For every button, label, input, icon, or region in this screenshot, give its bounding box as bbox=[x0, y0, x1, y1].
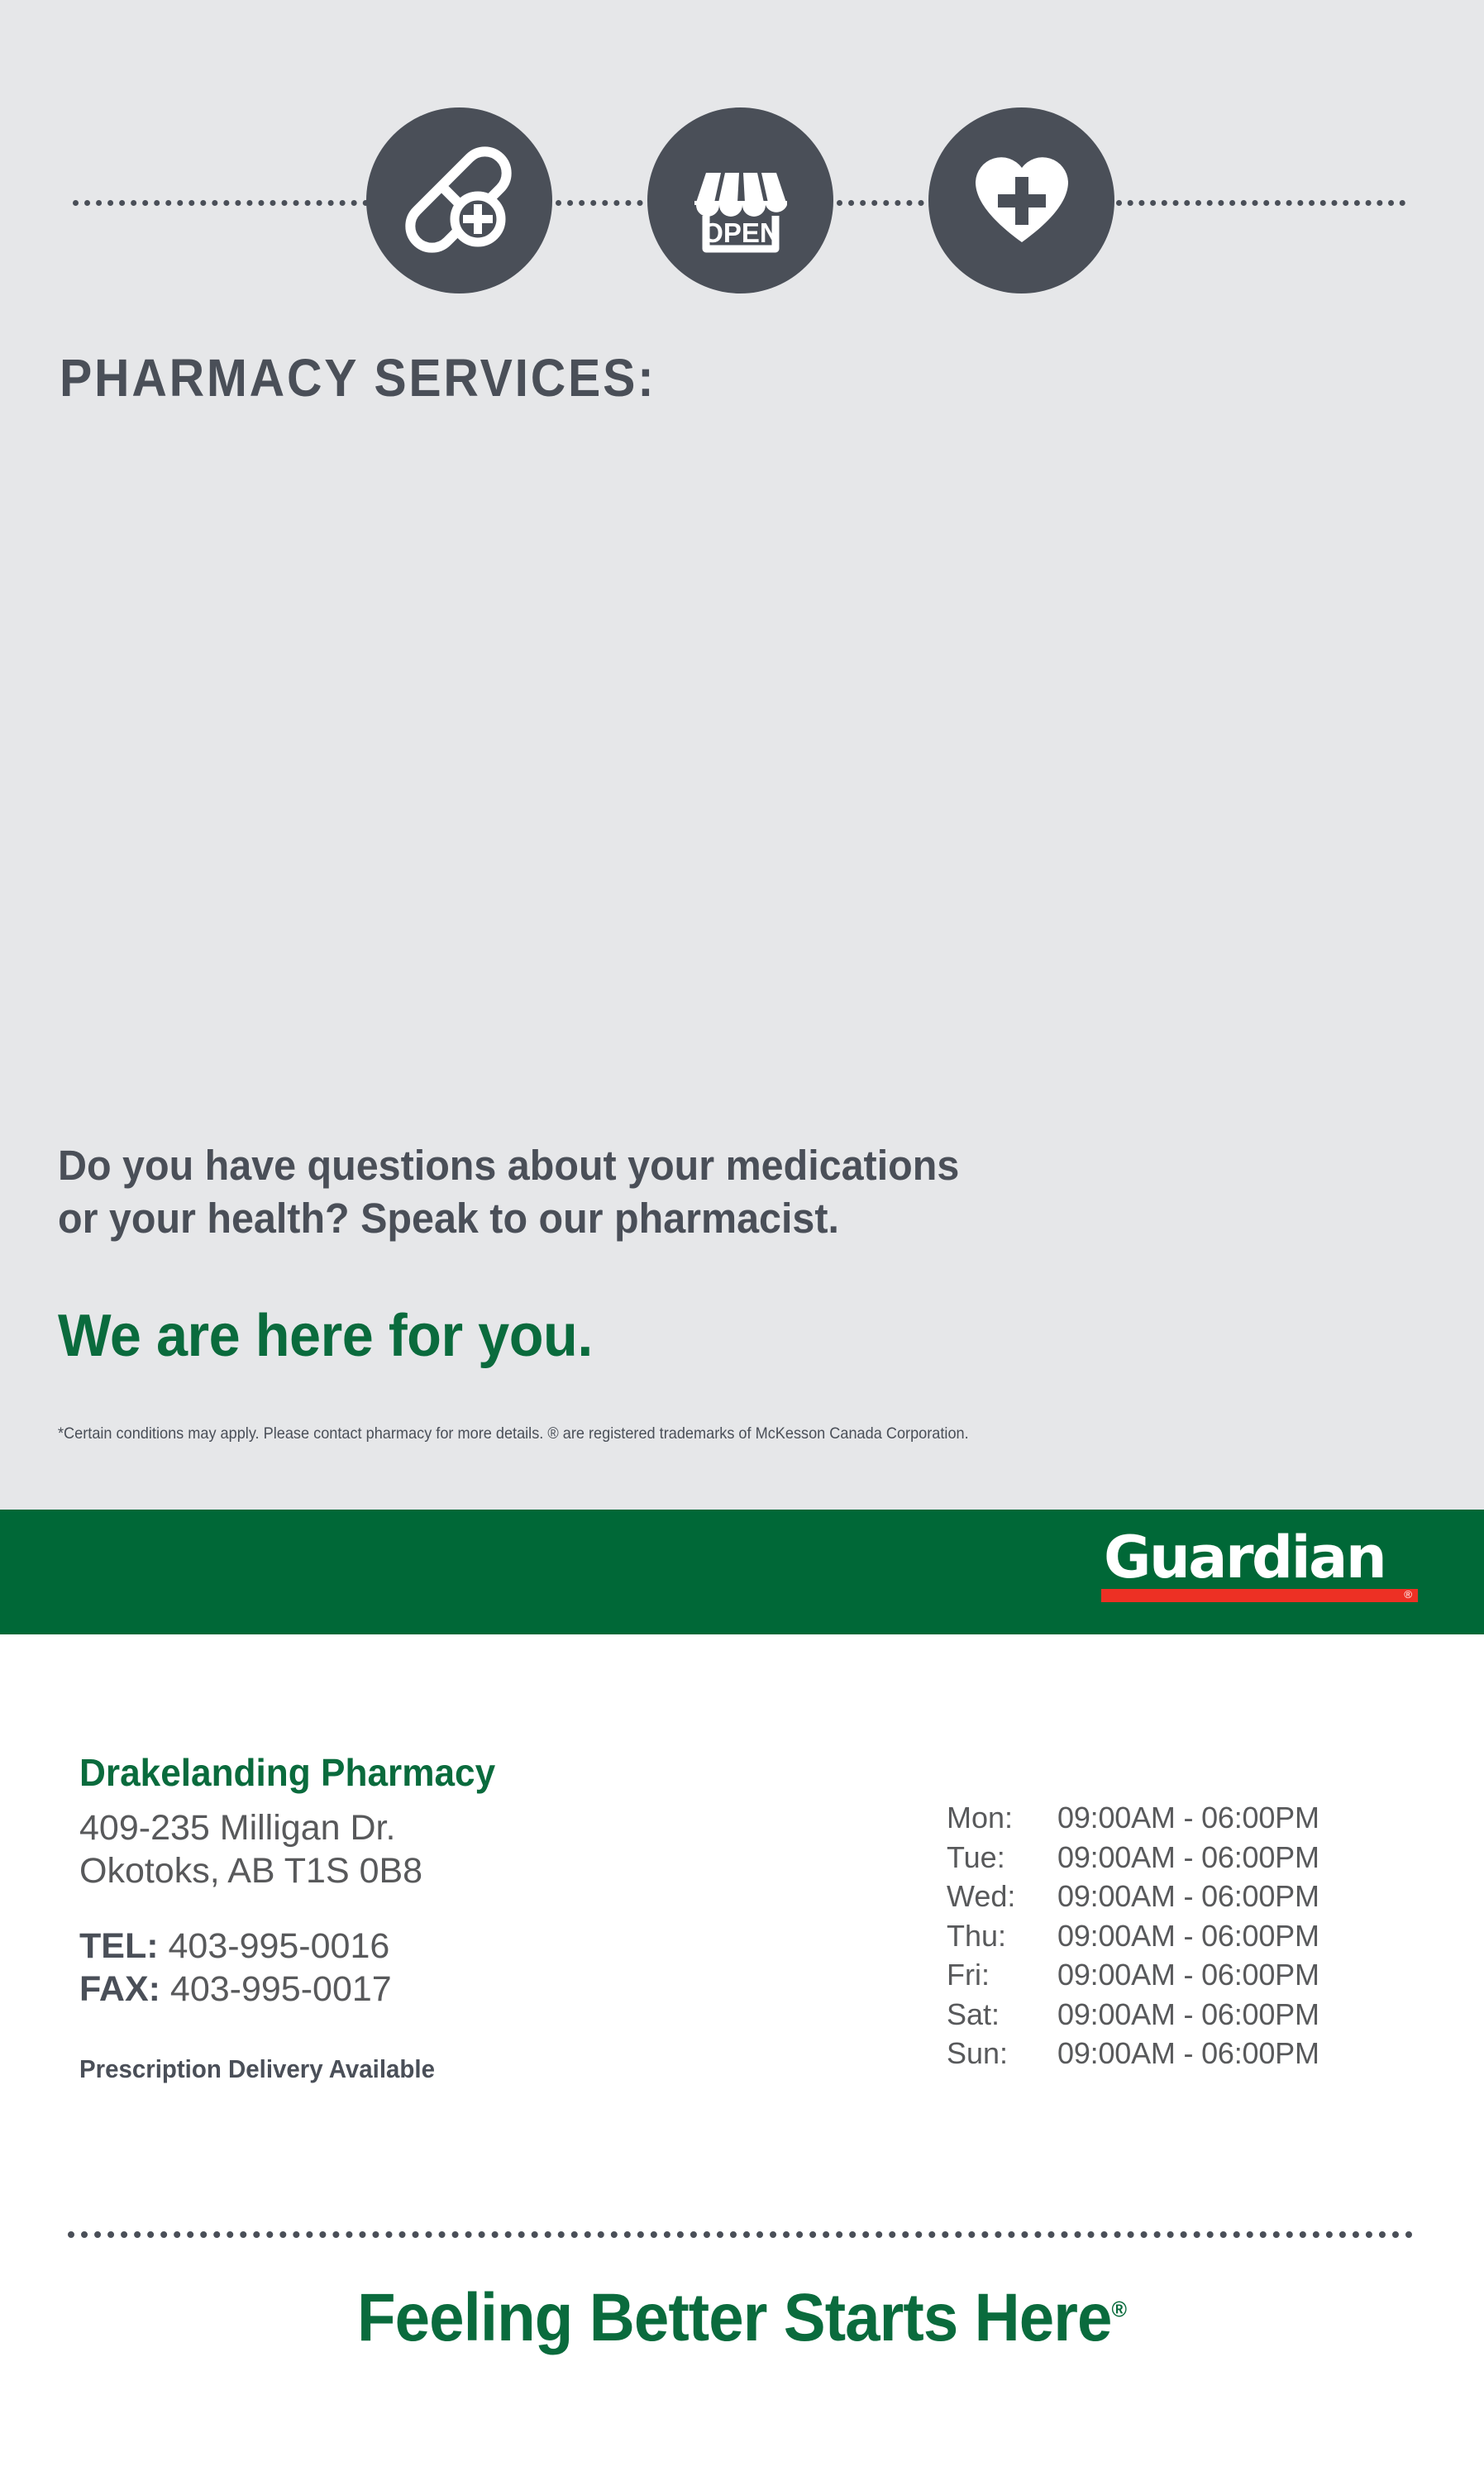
hours-row: Sun: 09:00AM - 06:00PM bbox=[947, 2034, 1319, 2073]
heart-plus-icon-badge bbox=[928, 107, 1114, 293]
storefront-open-icon-badge: OPEN bbox=[647, 107, 833, 293]
fax-value: 403-995-0017 bbox=[170, 1969, 392, 2009]
storefront-open-icon: OPEN bbox=[686, 146, 795, 255]
registered-trademark-icon: ® bbox=[1111, 2297, 1127, 2322]
hours-day: Sun: bbox=[947, 2034, 1057, 2073]
brand-band: Guardian ® bbox=[0, 1510, 1484, 1634]
hours-time: 09:00AM - 06:00PM bbox=[1057, 1916, 1319, 1956]
hours-day: Sat: bbox=[947, 1995, 1057, 2035]
message-line-2: or your health? Speak to our pharmacist. bbox=[58, 1192, 1236, 1245]
store-contact: TEL: 403-995-0016 FAX: 403-995-0017 bbox=[79, 1925, 823, 2011]
delivery-note: Prescription Delivery Available bbox=[79, 2054, 786, 2084]
guardian-logo: Guardian ® bbox=[1101, 1529, 1424, 1602]
disclaimer-text: *Certain conditions may apply. Please co… bbox=[58, 1424, 1319, 1443]
pills-icon-badge bbox=[366, 107, 552, 293]
pills-icon bbox=[405, 146, 514, 255]
footer-tagline: Feeling Better Starts Here® bbox=[52, 2279, 1432, 2357]
hours-day: Wed: bbox=[947, 1877, 1057, 1916]
registered-trademark-icon: ® bbox=[1404, 1588, 1412, 1601]
svg-text:OPEN: OPEN bbox=[702, 217, 780, 248]
hours-row: Tue: 09:00AM - 06:00PM bbox=[947, 1838, 1319, 1877]
message-line-1: Do you have questions about your medicat… bbox=[58, 1139, 1236, 1192]
message-body: Do you have questions about your medicat… bbox=[58, 1139, 1236, 1246]
hours-row: Wed: 09:00AM - 06:00PM bbox=[947, 1877, 1319, 1916]
hours-time: 09:00AM - 06:00PM bbox=[1057, 1995, 1319, 2035]
address-line-2: Okotoks, AB T1S 0B8 bbox=[79, 1849, 823, 1892]
store-hours: Mon: 09:00AM - 06:00PM Tue: 09:00AM - 06… bbox=[947, 1798, 1319, 2073]
hero-message: We are here for you. bbox=[58, 1302, 593, 1370]
guardian-wordmark: Guardian bbox=[1101, 1529, 1424, 1586]
dotted-divider bbox=[68, 2231, 1413, 2238]
top-panel: OPEN PHARMACY SERVICES: Do you have ques… bbox=[0, 0, 1484, 1510]
icon-strip: OPEN bbox=[0, 107, 1484, 293]
fax-row: FAX: 403-995-0017 bbox=[79, 1968, 823, 2011]
dotted-rule-segment bbox=[1116, 200, 1405, 206]
dotted-rule-segment bbox=[73, 200, 380, 206]
hours-row: Sat: 09:00AM - 06:00PM bbox=[947, 1995, 1319, 2035]
hours-day: Mon: bbox=[947, 1798, 1057, 1838]
store-address: 409-235 Milligan Dr. Okotoks, AB T1S 0B8 bbox=[79, 1806, 823, 1893]
telephone-label: TEL: bbox=[79, 1926, 159, 1966]
telephone-value[interactable]: 403-995-0016 bbox=[169, 1926, 390, 1966]
hours-row: Mon: 09:00AM - 06:00PM bbox=[947, 1798, 1319, 1838]
hours-row: Thu: 09:00AM - 06:00PM bbox=[947, 1916, 1319, 1956]
telephone-row: TEL: 403-995-0016 bbox=[79, 1925, 823, 1968]
hours-day: Thu: bbox=[947, 1916, 1057, 1956]
hours-time: 09:00AM - 06:00PM bbox=[1057, 1838, 1319, 1877]
hours-time: 09:00AM - 06:00PM bbox=[1057, 1877, 1319, 1916]
hours-day: Fri: bbox=[947, 1955, 1057, 1995]
address-line-1: 409-235 Milligan Dr. bbox=[79, 1806, 823, 1849]
hours-time: 09:00AM - 06:00PM bbox=[1057, 1955, 1319, 1995]
guardian-underline-bar: ® bbox=[1101, 1589, 1418, 1602]
hours-time: 09:00AM - 06:00PM bbox=[1057, 1798, 1319, 1838]
hours-row: Fri: 09:00AM - 06:00PM bbox=[947, 1955, 1319, 1995]
page-title: PHARMACY SERVICES: bbox=[60, 347, 656, 408]
store-info-panel: Drakelanding Pharmacy 409-235 Milligan D… bbox=[0, 1634, 1484, 2476]
hours-time: 09:00AM - 06:00PM bbox=[1057, 2034, 1319, 2073]
hours-day: Tue: bbox=[947, 1838, 1057, 1877]
store-name: Drakelanding Pharmacy bbox=[79, 1750, 794, 1795]
store-details: Drakelanding Pharmacy 409-235 Milligan D… bbox=[79, 1750, 823, 2084]
heart-plus-icon bbox=[967, 146, 1076, 255]
fax-label: FAX: bbox=[79, 1969, 160, 2009]
footer-tagline-text: Feeling Better Starts Here bbox=[357, 2280, 1111, 2355]
